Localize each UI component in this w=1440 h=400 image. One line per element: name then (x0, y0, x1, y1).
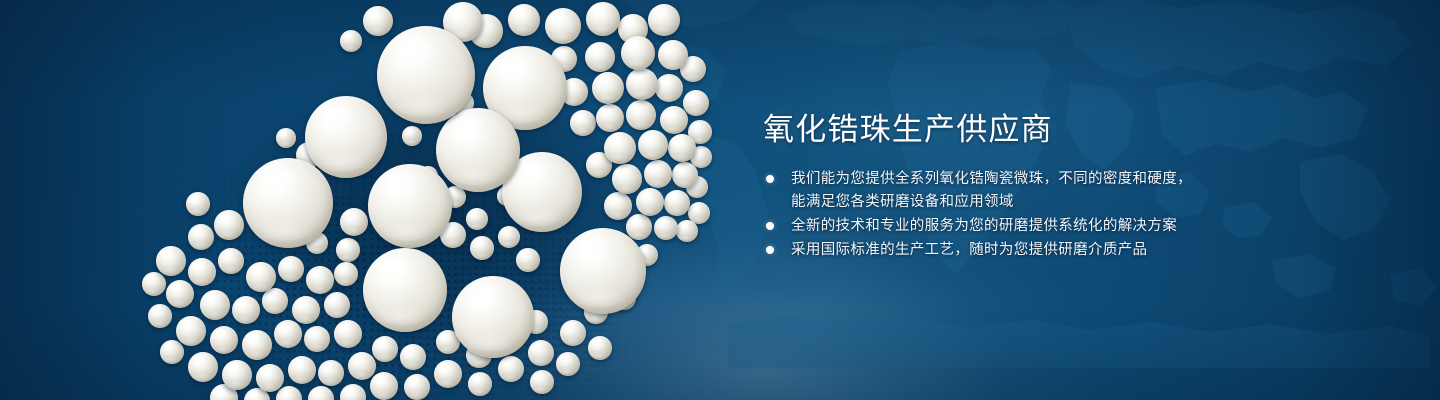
bead (188, 258, 216, 286)
bead (468, 372, 492, 396)
bead (348, 352, 376, 380)
bead (530, 370, 554, 394)
bead (638, 130, 668, 160)
list-item-label: 全新的技术和专业的服务为您的研磨提供系统化的解决方案 (791, 215, 1233, 238)
list-item: 采用国际标准的生产工艺，随时为您提供研磨介质产品 (763, 239, 1233, 262)
bead (672, 162, 698, 188)
bead (340, 30, 362, 52)
bead (214, 210, 244, 240)
bead (604, 192, 632, 220)
bead (256, 364, 284, 392)
bead (404, 374, 430, 400)
bead (644, 160, 672, 188)
bead (508, 4, 540, 36)
banner-feature-list: 我们能为您提供全系列氧化锆陶瓷微珠，不同的密度和硬度， 能满足您各类研磨设备和应… (763, 168, 1233, 263)
bead (278, 256, 304, 282)
list-item-label: 我们能为您提供全系列氧化锆陶瓷微珠，不同的密度和硬度， 能满足您各类研磨设备和应… (791, 168, 1233, 214)
bead (176, 316, 206, 346)
bead (377, 26, 475, 124)
list-item: 全新的技术和专业的服务为您的研磨提供系统化的解决方案 (763, 215, 1233, 238)
bead (664, 190, 690, 216)
bead (498, 356, 524, 382)
bead (276, 128, 296, 148)
bead (466, 208, 488, 230)
bead (636, 188, 664, 216)
bead (288, 356, 316, 384)
bead (626, 214, 652, 240)
filled-circle-bullet-icon (766, 222, 774, 230)
bead (334, 320, 362, 348)
bead (470, 236, 494, 260)
bead (304, 326, 330, 352)
promo-banner: 氧化锆珠生产供应商 我们能为您提供全系列氧化锆陶瓷微珠，不同的密度和硬度， 能满… (0, 0, 1440, 400)
bead (262, 288, 288, 314)
bead (604, 132, 636, 164)
bead (308, 386, 334, 400)
bead (186, 192, 210, 216)
bead (560, 320, 586, 346)
bead (370, 372, 398, 400)
bead (434, 360, 462, 388)
bead (683, 90, 709, 116)
bead (336, 238, 360, 262)
bead (400, 344, 426, 370)
bead (324, 292, 350, 318)
bead (363, 248, 447, 332)
zirconia-beads-cluster-icon (0, 0, 760, 400)
bead (340, 384, 366, 400)
bead (243, 158, 333, 248)
bead (592, 72, 624, 104)
banner-headline: 氧化锆珠生产供应商 (763, 110, 1053, 150)
bead (654, 216, 678, 240)
bead (363, 6, 393, 36)
bead (621, 36, 655, 70)
bead (596, 104, 624, 132)
bead (188, 352, 218, 382)
bead (402, 126, 422, 146)
bead (274, 320, 302, 348)
bead (658, 40, 688, 70)
bead (626, 68, 658, 100)
bead (222, 360, 252, 390)
bead (218, 248, 244, 274)
bead (436, 108, 520, 192)
bead (306, 266, 334, 294)
bead (560, 228, 646, 314)
bead (612, 164, 642, 194)
bead (676, 220, 698, 242)
bead (340, 208, 368, 236)
bead (305, 96, 387, 178)
bead (556, 352, 580, 376)
bead (372, 336, 398, 362)
bead (586, 2, 620, 36)
list-item: 我们能为您提供全系列氧化锆陶瓷微珠，不同的密度和硬度， 能满足您各类研磨设备和应… (763, 168, 1233, 214)
bead (156, 246, 186, 276)
bead (452, 276, 534, 358)
bead (368, 164, 452, 248)
bead (318, 360, 344, 386)
bead (668, 134, 696, 162)
banner-copy-block: 氧化锆珠生产供应商 我们能为您提供全系列氧化锆陶瓷微珠，不同的密度和硬度， 能满… (763, 0, 1233, 400)
bead (334, 262, 358, 286)
bead (545, 8, 581, 44)
bead (232, 296, 260, 324)
bead (188, 224, 214, 250)
bead (166, 280, 194, 308)
bead (200, 290, 230, 320)
bead (242, 330, 272, 360)
bead (246, 262, 276, 292)
bead (160, 340, 184, 364)
bead (626, 100, 656, 130)
bead (210, 326, 238, 354)
bead (142, 272, 166, 296)
bead (276, 386, 302, 400)
bead (585, 42, 615, 72)
bead (655, 74, 683, 102)
bead (570, 110, 596, 136)
bead (498, 226, 520, 248)
bead (516, 248, 540, 272)
bead (528, 340, 554, 366)
bead (660, 106, 688, 134)
filled-circle-bullet-icon (766, 175, 774, 183)
list-item-label: 采用国际标准的生产工艺，随时为您提供研磨介质产品 (791, 239, 1233, 262)
bead (648, 4, 680, 36)
filled-circle-bullet-icon (766, 246, 774, 254)
bead (148, 304, 172, 328)
bead (292, 296, 320, 324)
bead (588, 336, 612, 360)
